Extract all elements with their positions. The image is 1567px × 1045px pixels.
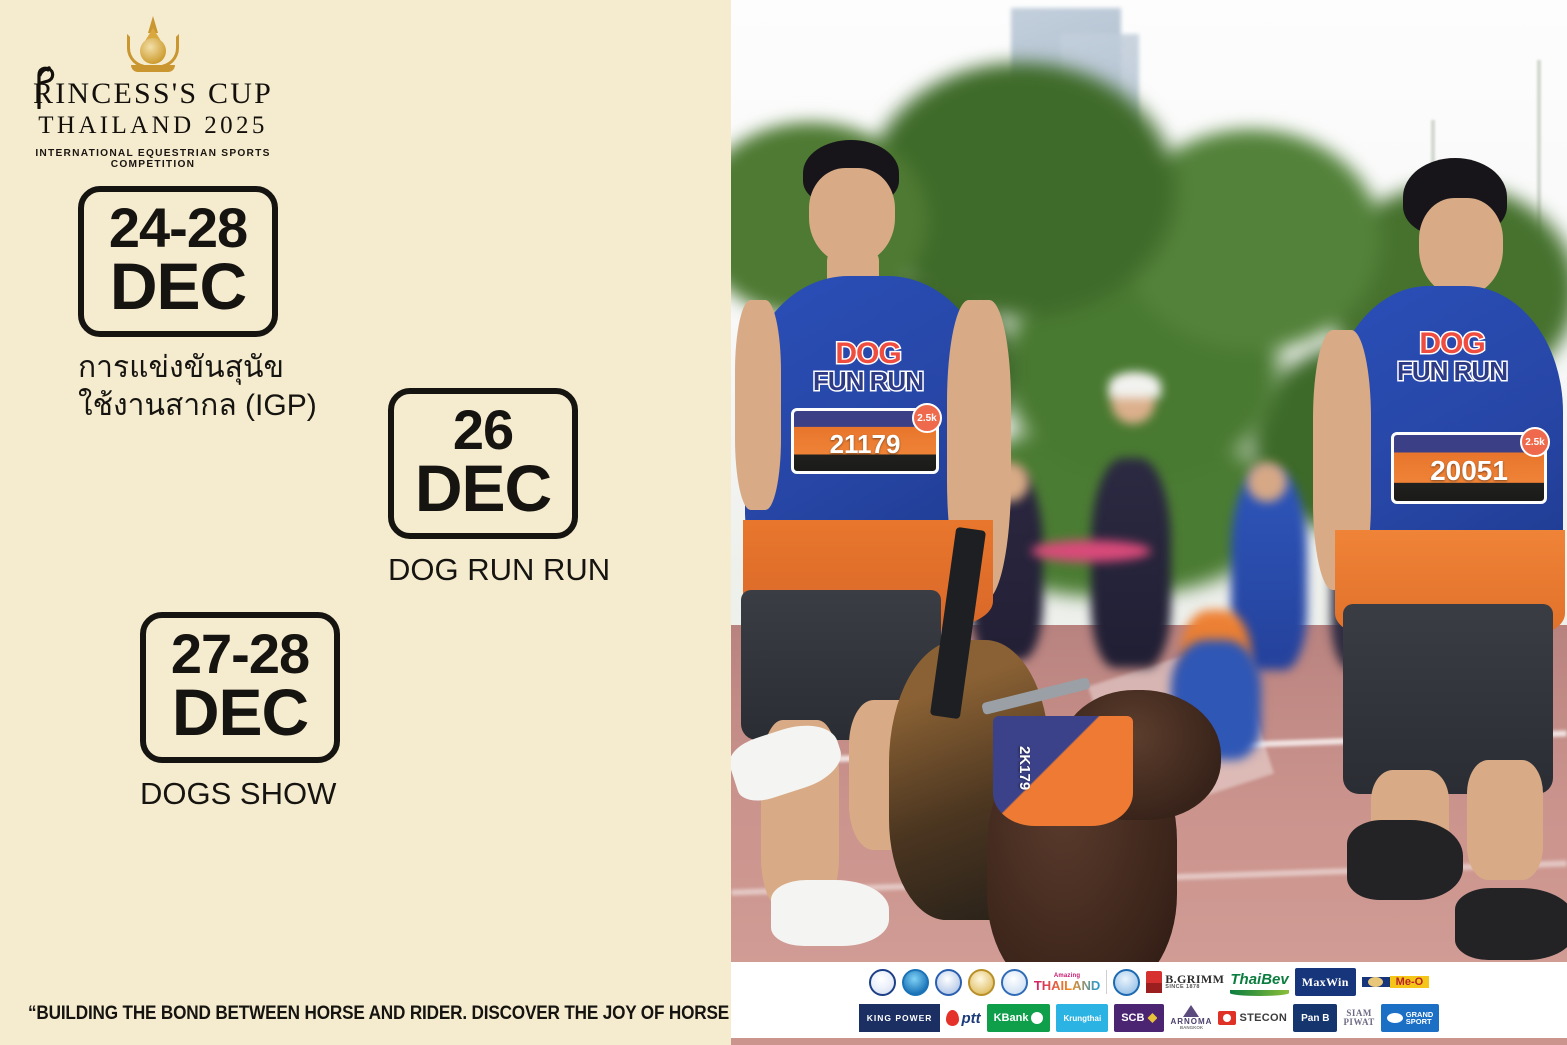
sponsor-kbank: KBank bbox=[987, 1004, 1051, 1032]
runner-left-bib-number: 21179 bbox=[830, 429, 901, 460]
crowd-runner-d-head bbox=[1247, 462, 1287, 502]
kbank-seed-icon bbox=[1031, 1012, 1043, 1024]
dog-bib-number: 2K179 bbox=[999, 722, 1033, 814]
track-strip-bottom bbox=[731, 1038, 1567, 1045]
runner-left-shirt-word1: DOG bbox=[783, 340, 953, 369]
sponsor-pan-b: Pan B bbox=[1293, 1004, 1337, 1032]
date-day-igp: 24-28 bbox=[109, 202, 247, 254]
event-photo: DOG FUN RUN 21179 2.5k DOG FUN RUN bbox=[731, 0, 1567, 1045]
crowd-runner-cap bbox=[1109, 372, 1161, 398]
runner-right-shoe-2 bbox=[1455, 888, 1567, 960]
sponsor-row-1: Amazing THAILAND B.GRIMM SINCE 1878 Thai… bbox=[737, 966, 1561, 999]
sponsor-me-o: Me-O bbox=[1362, 969, 1430, 995]
ptt-label: ptt bbox=[961, 1010, 980, 1027]
runner-left-distance-badge: 2.5k bbox=[912, 403, 942, 433]
sponsor-amazing-thailand: Amazing THAILAND bbox=[1034, 968, 1100, 996]
runner-right-shirt-word1: DOG bbox=[1367, 330, 1537, 359]
date-day-dogs-show: 27-28 bbox=[171, 628, 309, 680]
runner-right-shirt-graphic: DOG FUN RUN bbox=[1367, 330, 1537, 383]
sponsor-equestrian-federation bbox=[869, 968, 896, 996]
sponsor-thaibev: ThaiBev bbox=[1230, 968, 1288, 996]
sponsor-divider bbox=[1106, 970, 1107, 994]
runner-right-face bbox=[1419, 198, 1503, 296]
logo-title-text: RINCESS'S CUP bbox=[33, 77, 273, 110]
date-badge-dog-run-run: 26 DEC bbox=[388, 388, 578, 539]
royal-emblem-icon bbox=[122, 14, 184, 76]
horse-rider-p-icon bbox=[28, 65, 58, 109]
sponsor-row-2: KING POWER ptt KBank Krungthai SCB ARNOM… bbox=[737, 1002, 1561, 1035]
date-day-dog-run-run: 26 bbox=[453, 404, 513, 456]
runner-right-bib: 20051 2.5k bbox=[1391, 432, 1547, 504]
runner-left-shirt-graphic: DOG FUN RUN bbox=[783, 340, 953, 393]
runner-right-shirt-word2: FUN RUN bbox=[1367, 359, 1537, 384]
logo-tagline: INTERNATIONAL EQUESTRIAN SPORTS COMPETIT… bbox=[18, 148, 288, 170]
arnoma-triangle-icon bbox=[1183, 1005, 1199, 1017]
sponsor-olympic-committee bbox=[935, 968, 962, 996]
sponsor-maxwin: MaxWin bbox=[1295, 968, 1356, 996]
sponsor-grand-sport: GRAND SPORT bbox=[1381, 1004, 1440, 1032]
b-grimm-mark-icon bbox=[1146, 971, 1162, 993]
sponsor-scb: SCB bbox=[1114, 1004, 1164, 1032]
stecon-mark-icon bbox=[1218, 1011, 1236, 1025]
date-badge-igp: 24-28 DEC bbox=[78, 186, 278, 337]
event-block-dog-run-run: 26 DEC DOG RUN RUN bbox=[388, 388, 610, 590]
date-month-igp: DEC bbox=[110, 256, 246, 317]
event-label-igp-line1: การแข่งขันสุนัข bbox=[78, 349, 317, 387]
event-label-dogs-show: DOGS SHOW bbox=[140, 775, 340, 814]
runner-right-leg-2 bbox=[1467, 760, 1543, 880]
grand-sport-mark-icon bbox=[1387, 1013, 1403, 1023]
runner-left-shirt-word2: FUN RUN bbox=[783, 369, 953, 394]
sponsor-krungthai: Krungthai bbox=[1056, 1004, 1108, 1032]
date-month-dog-run-run: DEC bbox=[415, 458, 551, 519]
amazing-thailand-big: THAILAND bbox=[1034, 979, 1100, 992]
runner-right-bib-number: 20051 bbox=[1430, 455, 1508, 487]
leash-loop-pink bbox=[1031, 540, 1151, 562]
runner-right-distance-badge: 2.5k bbox=[1520, 427, 1550, 457]
event-block-igp: 24-28 DEC การแข่งขันสุนัข ใช้งานสากล (IG… bbox=[78, 186, 317, 424]
sponsor-sports-authority bbox=[902, 968, 929, 996]
sponsor-equestrian-association bbox=[1001, 968, 1028, 996]
sponsor-ptt: ptt bbox=[946, 1004, 980, 1032]
b-grimm-since: SINCE 1878 bbox=[1165, 985, 1224, 991]
sponsor-king-power: KING POWER bbox=[859, 1004, 941, 1032]
ptt-drop-icon bbox=[946, 1010, 959, 1026]
scb-label: SCB bbox=[1121, 1012, 1144, 1024]
sponsor-logo-band: Amazing THAILAND B.GRIMM SINCE 1878 Thai… bbox=[731, 962, 1567, 1038]
sponsor-stecon: STECON bbox=[1218, 1004, 1287, 1032]
sponsor-royal-patronage bbox=[968, 968, 995, 996]
date-badge-dogs-show: 27-28 DEC bbox=[140, 612, 340, 763]
sponsor-siam-piwat: SIAM PIWAT bbox=[1343, 1004, 1374, 1032]
runner-left-bib: 21179 2.5k bbox=[791, 408, 939, 474]
sponsor-b-grimm: B.GRIMM SINCE 1878 bbox=[1146, 968, 1224, 996]
me-o-label: Me-O bbox=[1390, 976, 1430, 988]
poster-root: RINCESS'S CUP THAILAND 2025 INTERNATIONA… bbox=[0, 0, 1567, 1045]
runner-left-shoe bbox=[771, 880, 889, 946]
stecon-label: STECON bbox=[1239, 1012, 1287, 1024]
event-label-igp: การแข่งขันสุนัข ใช้งานสากล (IGP) bbox=[78, 349, 317, 424]
runner-left-arm-2 bbox=[735, 300, 781, 510]
princess-cup-logo: RINCESS'S CUP THAILAND 2025 INTERNATIONA… bbox=[18, 14, 288, 170]
event-block-dogs-show: 27-28 DEC DOGS SHOW bbox=[140, 612, 340, 814]
sponsor-partner-emblem bbox=[1113, 968, 1140, 996]
logo-subtitle: THAILAND 2025 bbox=[18, 111, 288, 141]
sponsor-arnoma: ARNOMA BANGKOK bbox=[1170, 1004, 1212, 1032]
kbank-label: KBank bbox=[994, 1012, 1029, 1024]
logo-title-line1: RINCESS'S CUP bbox=[18, 78, 288, 110]
scb-diamond-icon bbox=[1147, 1013, 1157, 1023]
arnoma-sub: BANGKOK bbox=[1180, 1026, 1203, 1031]
crowd-runner-c bbox=[1091, 458, 1171, 668]
left-info-panel: RINCESS'S CUP THAILAND 2025 INTERNATIONA… bbox=[0, 0, 731, 1045]
grand-sport-line2: SPORT bbox=[1406, 1018, 1434, 1026]
poster-tagline: “BUILDING THE BOND BETWEEN HORSE AND RID… bbox=[28, 1002, 635, 1025]
event-label-igp-line2: ใช้งานสากล (IGP) bbox=[78, 387, 317, 425]
date-month-dogs-show: DEC bbox=[172, 682, 308, 743]
event-label-dog-run-run: DOG RUN RUN bbox=[388, 551, 610, 590]
siam-piwat-line2: PIWAT bbox=[1343, 1018, 1374, 1027]
runner-right-shoe bbox=[1347, 820, 1463, 900]
